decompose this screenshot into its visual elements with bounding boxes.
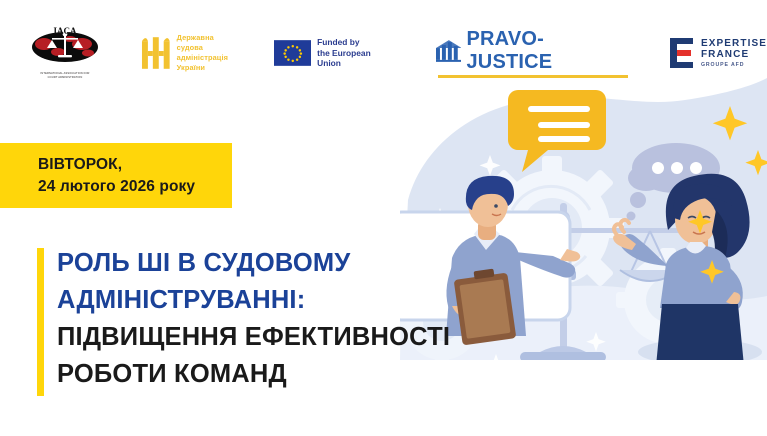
event-announcement-poster: IACA INTERNATIONAL ASSOCIATION FORCOURT … (0, 0, 767, 436)
expertise-france-mark (670, 38, 696, 68)
title-line-1: РОЛЬ ШІ В СУДОВОМУ (57, 245, 517, 282)
title-accent-bar (37, 248, 44, 396)
dsa-line-3: України (177, 63, 242, 73)
courthouse-building-icon (436, 40, 462, 62)
scales-of-justice-globe-emblem: IACA (30, 26, 100, 66)
iaca-caption: INTERNATIONAL ASSOCIATION FORCOURT ADMIN… (30, 72, 100, 80)
ukraine-trident-tryzub-icon (140, 35, 172, 71)
eu-logo-text: Funded by the European Union (317, 37, 396, 69)
title-lines: РОЛЬ ШІ В СУДОВОМУ АДМІНІСТРУВАННІ: ПІДВ… (37, 245, 517, 393)
eu-funding-logo: Funded by the European Union (274, 37, 396, 69)
date-full: 24 лютого 2026 року (38, 176, 232, 198)
pravo-justice-wordmark: PRAVO-JUSTICE (466, 28, 627, 74)
ef-line-1: EXPERTISE (701, 38, 767, 49)
eu-flag-icon (274, 40, 312, 66)
pravo-justice-logo: PRAVO-JUSTICE (436, 28, 628, 78)
iaca-logo: IACA INTERNATIONAL ASSOCIATION FORCOURT … (30, 26, 100, 80)
eu-line-2: the European Union (317, 48, 396, 70)
dsa-line-1: Державна судова (177, 33, 242, 53)
event-title-block: РОЛЬ ШІ В СУДОВОМУ АДМІНІСТРУВАННІ: ПІДВ… (37, 245, 517, 393)
ef-line-2: FRANCE (701, 49, 767, 60)
expertise-france-logo: EXPERTISE FRANCE GROUPE AFD (670, 38, 767, 68)
dsa-line-2: адміністрація (177, 53, 242, 63)
title-line-4: РОБОТИ КОМАНД (57, 356, 517, 393)
pravo-justice-underline (438, 75, 628, 78)
date-banner: ВІВТОРОК, 24 лютого 2026 року (0, 143, 232, 208)
expertise-france-text: EXPERTISE FRANCE GROUPE AFD (701, 38, 767, 68)
ef-line-3: GROUPE AFD (701, 62, 767, 68)
eu-line-1: Funded by (317, 37, 396, 48)
title-line-3: ПІДВИЩЕННЯ ЕФЕКТИВНОСТІ (57, 319, 517, 356)
partner-logo-strip: IACA INTERNATIONAL ASSOCIATION FORCOURT … (0, 22, 767, 84)
date-weekday: ВІВТОРОК, (38, 154, 232, 176)
dsa-logo: Державна судова адміністрація України (140, 33, 242, 72)
svg-text:IACA: IACA (53, 26, 77, 36)
title-line-2: АДМІНІСТРУВАННІ: (57, 282, 517, 319)
dsa-logo-text: Державна судова адміністрація України (177, 33, 242, 72)
